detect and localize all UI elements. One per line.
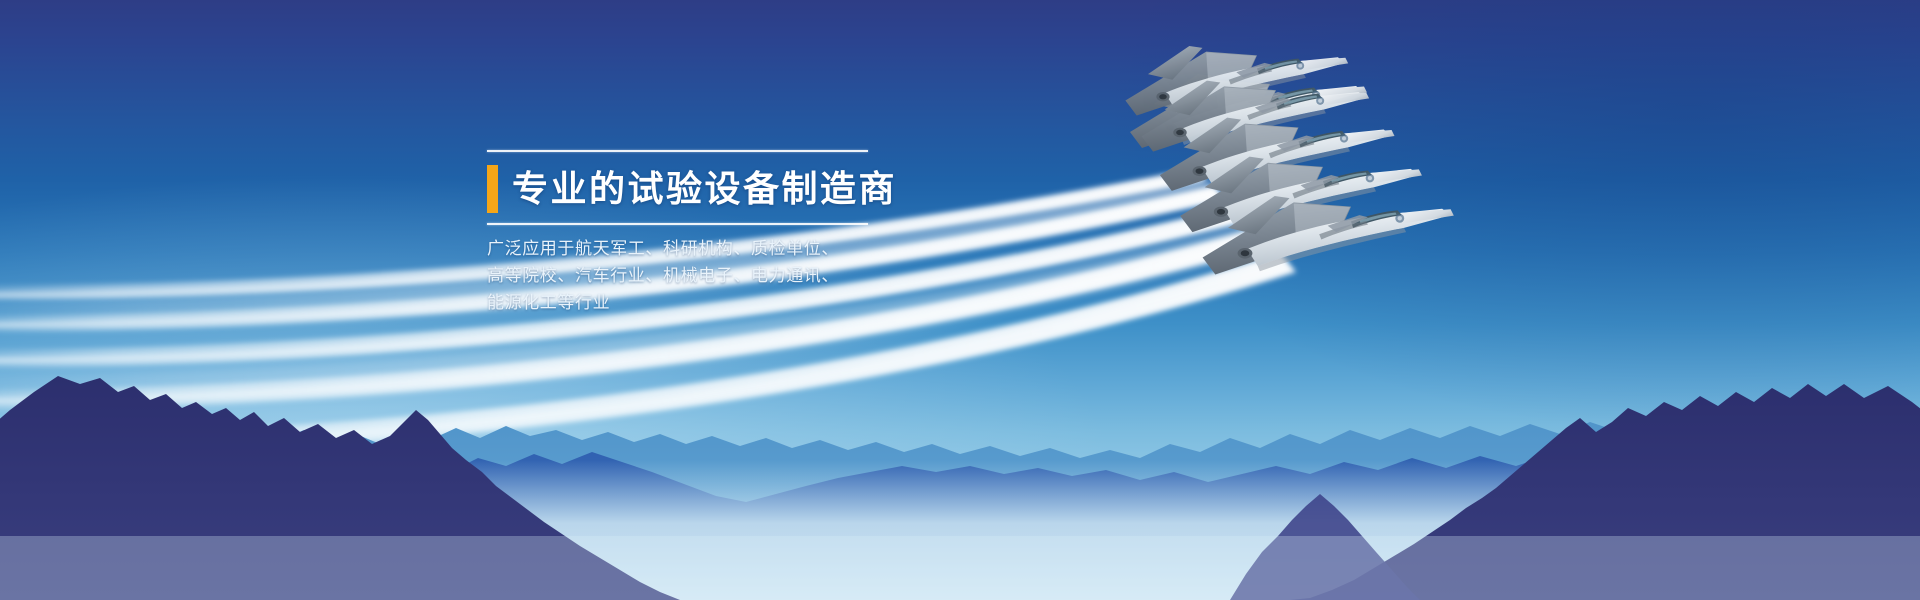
subtitle-line-3: 能源化工等行业 [487, 289, 917, 316]
banner-copy-block: 专业的试验设备制造商 广泛应用于航天军工、科研机构、质检单位、 高等院校、汽车行… [487, 150, 917, 316]
headline-row: 专业的试验设备制造商 [487, 161, 917, 217]
subtitle-line-1: 广泛应用于航天军工、科研机构、质检单位、 [487, 235, 917, 262]
accent-bar-icon [487, 165, 498, 213]
lower-haze-veil [0, 536, 1920, 600]
banner-headline: 专业的试验设备制造商 [512, 171, 897, 207]
fighter-jet-formation-image [1120, 40, 1540, 300]
mountain-range-silhouettes [0, 340, 1920, 600]
subtitle-line-2: 高等院校、汽车行业、机械电子、电力通讯、 [487, 262, 917, 289]
hero-banner: 专业的试验设备制造商 广泛应用于航天军工、科研机构、质检单位、 高等院校、汽车行… [0, 0, 1920, 600]
banner-subtitle: 广泛应用于航天军工、科研机构、质检单位、 高等院校、汽车行业、机械电子、电力通讯… [487, 235, 917, 316]
headline-rule-top [487, 150, 868, 152]
headline-rule-bottom [487, 223, 868, 225]
